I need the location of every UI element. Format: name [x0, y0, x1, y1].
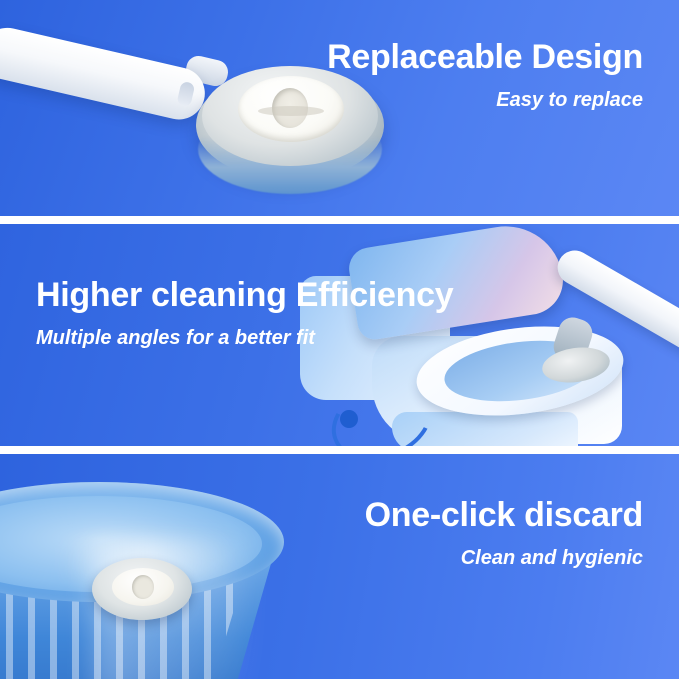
panel-one-click-discard: One-click discard Clean and hygienic	[0, 454, 679, 679]
sponge-center-disc	[112, 568, 174, 606]
panel-3-text-block: One-click discard Clean and hygienic	[365, 496, 643, 570]
water-droplet-icon	[340, 410, 358, 428]
panel-2-subline: Multiple angles for a better fit	[36, 326, 453, 350]
panel-2-text-block: Higher cleaning Efficiency Multiple angl…	[36, 276, 453, 350]
panel-replaceable-design: Replaceable Design Easy to replace	[0, 0, 679, 216]
panel-higher-cleaning-efficiency: Higher cleaning Efficiency Multiple angl…	[0, 224, 679, 446]
panel-2-headline: Higher cleaning Efficiency	[36, 276, 453, 314]
infographic-board: Replaceable Design Easy to replace Highe…	[0, 0, 679, 679]
falling-sponge-head-icon	[92, 558, 192, 620]
panel-1-subline: Easy to replace	[327, 88, 643, 112]
panel-divider-2	[0, 446, 679, 454]
panel-divider-1	[0, 216, 679, 224]
panel-3-subline: Clean and hygienic	[365, 546, 643, 570]
panel-1-headline: Replaceable Design	[327, 38, 643, 76]
panel-3-headline: One-click discard	[365, 496, 643, 534]
panel-1-text-block: Replaceable Design Easy to replace	[327, 38, 643, 112]
